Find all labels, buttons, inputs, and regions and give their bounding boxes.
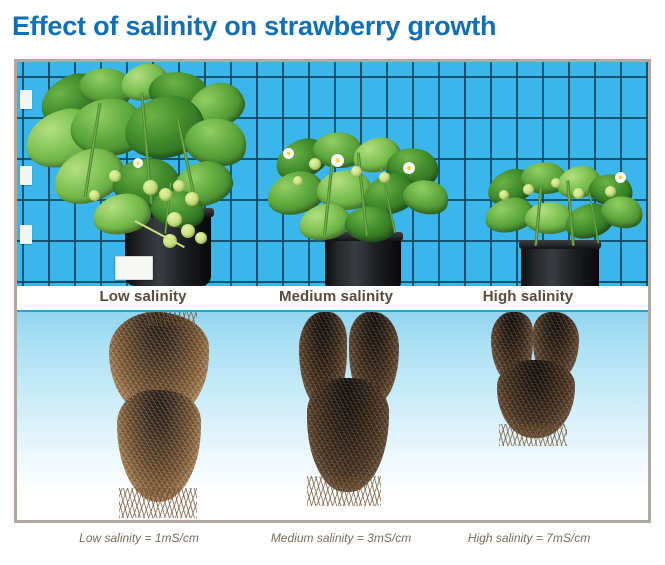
unripe-fruit	[351, 166, 362, 177]
unripe-fruit	[499, 190, 509, 200]
mesh-clip-icon	[20, 90, 32, 109]
unripe-fruit	[109, 170, 121, 182]
sub-caption-high-salinity: High salinity = 7mS/cm	[414, 531, 644, 545]
sub-caption-row: Low salinity = 1mS/cm Medium salinity = …	[14, 531, 651, 557]
figure-frame: Low salinity Medium salinity High salini…	[14, 59, 651, 523]
plants-photograph	[17, 62, 648, 286]
unripe-fruit	[159, 188, 172, 201]
root-mass-medium-salinity	[297, 312, 403, 508]
flower	[403, 162, 415, 174]
unripe-fruit	[573, 188, 584, 199]
mesh-clip-icon	[20, 166, 32, 185]
page-title: Effect of salinity on strawberry growth	[12, 6, 652, 46]
unripe-fruit	[167, 212, 182, 227]
band-label-high-salinity: High salinity	[423, 288, 633, 305]
unripe-fruit	[89, 190, 100, 201]
unripe-fruit	[309, 158, 321, 170]
unripe-fruit	[523, 184, 534, 195]
plant-id-tag	[115, 256, 153, 280]
root-mass-high-salinity	[485, 312, 589, 448]
root-blob	[117, 390, 201, 502]
unripe-fruit	[605, 186, 616, 197]
flower	[133, 158, 143, 168]
root-fringe	[307, 476, 381, 506]
band-label-medium-salinity: Medium salinity	[231, 288, 441, 305]
unripe-fruit	[143, 180, 158, 195]
sub-caption-low-salinity: Low salinity = 1mS/cm	[24, 531, 254, 545]
mesh-clip-icon	[20, 225, 32, 244]
unripe-fruit	[181, 224, 195, 238]
unripe-fruit	[173, 180, 185, 192]
unripe-fruit	[551, 178, 561, 188]
roots-photograph	[17, 310, 648, 520]
flower	[283, 148, 294, 159]
root-mass-low-salinity	[103, 312, 215, 520]
root-fringe	[145, 312, 197, 326]
unripe-fruit	[379, 172, 390, 183]
plant-pot	[521, 240, 599, 286]
root-fringe	[499, 424, 567, 446]
unripe-fruit	[185, 192, 199, 206]
flower	[615, 172, 626, 183]
flower	[331, 154, 344, 167]
root-fringe	[119, 488, 197, 518]
unripe-fruit	[293, 176, 303, 186]
band-label-low-salinity: Low salinity	[43, 288, 243, 305]
unripe-fruit	[195, 232, 207, 244]
salinity-label-band: Low salinity Medium salinity High salini…	[17, 286, 648, 310]
root-blob	[307, 378, 389, 492]
